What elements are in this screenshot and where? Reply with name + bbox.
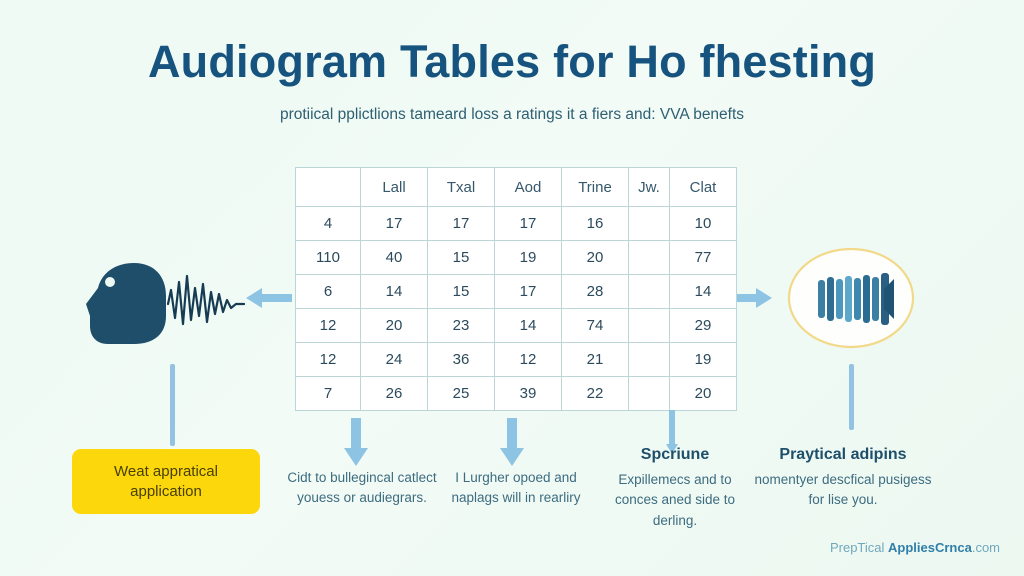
footer-brand-suffix: .com (972, 540, 1000, 555)
cell-r1c4: 20 (562, 241, 629, 275)
cell-r0c4: 16 (562, 207, 629, 241)
cell-r3c4: 74 (562, 309, 629, 343)
cell-r2c0: 6 (296, 275, 361, 309)
column-header-4: Trine (562, 168, 629, 207)
table-header-row: Lall Txal Aod Trine Jw. Clat (296, 168, 737, 207)
audiogram-table-element: Lall Txal Aod Trine Jw. Clat 4 17 17 17 … (295, 167, 737, 411)
cell-r4c4: 21 (562, 343, 629, 377)
cell-r5c2: 25 (428, 377, 495, 411)
cell-r5c4: 22 (562, 377, 629, 411)
cell-r2c2: 15 (428, 275, 495, 309)
cell-r1c6: 77 (670, 241, 737, 275)
cell-r3c5 (629, 309, 670, 343)
table-row: 4 17 17 17 16 10 (296, 207, 737, 241)
cell-r4c2: 36 (428, 343, 495, 377)
footer-brand-prefix: PrepTical (830, 540, 888, 555)
footer-brand-name: AppliesCrnca (888, 540, 972, 555)
cell-r0c5 (629, 207, 670, 241)
note-body-2: I Lurgher opoed and naplags will in rear… (442, 468, 590, 509)
head-waveform-icon (78, 258, 248, 348)
note-heading-4: Praytical adipins (750, 443, 936, 467)
footer-brand: PrepTical AppliesCrnca.com (830, 540, 1000, 555)
column-header-2: Txal (428, 168, 495, 207)
page-subtitle: protiical pplictlions tameard loss a rat… (0, 106, 1024, 124)
cell-r0c6: 10 (670, 207, 737, 241)
note-column-4: Praytical adipins nomentyer descfical pu… (750, 443, 936, 511)
cell-r4c3: 12 (495, 343, 562, 377)
cell-r1c0: 110 (296, 241, 361, 275)
cell-r0c0: 4 (296, 207, 361, 241)
cell-r3c3: 14 (495, 309, 562, 343)
cell-r4c0: 12 (296, 343, 361, 377)
cell-r5c3: 39 (495, 377, 562, 411)
page-title: Audiogram Tables for Ho fhesting (0, 36, 1024, 88)
arrow-left-icon (246, 286, 292, 310)
table-row: 110 40 15 19 20 77 (296, 241, 737, 275)
note-column-1: Cidt to bullegincal catlect youess or au… (282, 465, 442, 509)
down-arrow-1-icon (343, 418, 369, 466)
cell-r3c2: 23 (428, 309, 495, 343)
cell-r3c0: 12 (296, 309, 361, 343)
column-header-6: Clat (670, 168, 737, 207)
column-header-3: Aod (495, 168, 562, 207)
cell-r2c1: 14 (361, 275, 428, 309)
connector-line-left (170, 364, 175, 446)
note-body-3: Expillemecs and to conces aned side to d… (600, 470, 750, 531)
note-body-4: nomentyer descfical pusigess for lise yo… (750, 470, 936, 511)
cell-r1c3: 19 (495, 241, 562, 275)
cell-r2c4: 28 (562, 275, 629, 309)
cell-r5c0: 7 (296, 377, 361, 411)
speaker-bars-icon (786, 247, 916, 349)
table-row: 12 24 36 12 21 19 (296, 343, 737, 377)
down-arrow-2-icon (499, 418, 525, 466)
cell-r3c6: 29 (670, 309, 737, 343)
cell-r3c1: 20 (361, 309, 428, 343)
connector-line-right (849, 364, 854, 430)
cell-r1c2: 15 (428, 241, 495, 275)
note-body-1: Cidt to bullegincal catlect youess or au… (282, 468, 442, 509)
audiogram-table: Lall Txal Aod Trine Jw. Clat 4 17 17 17 … (295, 167, 716, 406)
column-header-0 (296, 168, 361, 207)
cell-r5c5 (629, 377, 670, 411)
cell-r2c6: 14 (670, 275, 737, 309)
infographic-canvas: Audiogram Tables for Ho fhesting protiic… (0, 0, 1024, 576)
column-header-5: Jw. (629, 168, 670, 207)
note-heading-3: Spcriune (600, 443, 750, 467)
table-row: 6 14 15 17 28 14 (296, 275, 737, 309)
callout-box[interactable]: Weat appratical application (72, 449, 260, 514)
cell-r4c5 (629, 343, 670, 377)
cell-r1c1: 40 (361, 241, 428, 275)
cell-r0c2: 17 (428, 207, 495, 241)
cell-r2c5 (629, 275, 670, 309)
table-row: 7 26 25 39 22 20 (296, 377, 737, 411)
cell-r5c6: 20 (670, 377, 737, 411)
table-row: 12 20 23 14 74 29 (296, 309, 737, 343)
cell-r5c1: 26 (361, 377, 428, 411)
note-column-2: I Lurgher opoed and naplags will in rear… (442, 465, 590, 509)
cell-r1c5 (629, 241, 670, 275)
cell-r2c3: 17 (495, 275, 562, 309)
column-header-1: Lall (361, 168, 428, 207)
cell-r4c6: 19 (670, 343, 737, 377)
cell-r4c1: 24 (361, 343, 428, 377)
note-column-3: Spcriune Expillemecs and to conces aned … (600, 443, 750, 531)
cell-r0c3: 17 (495, 207, 562, 241)
cell-r0c1: 17 (361, 207, 428, 241)
